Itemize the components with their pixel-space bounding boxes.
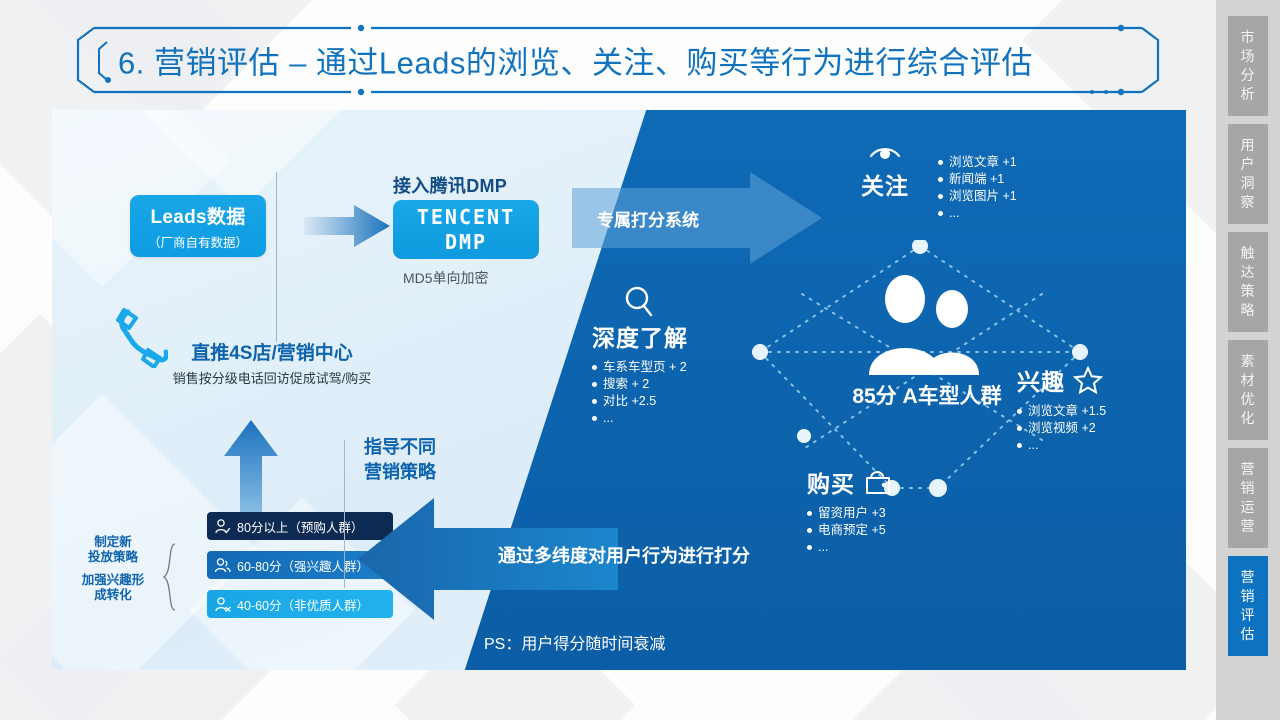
list-item: 电商预定 +5 (807, 522, 987, 539)
sidebar-item-creative-optimization[interactable]: 素材优化 (1228, 340, 1268, 440)
leads-title: Leads数据 (150, 202, 245, 229)
vertical-divider (276, 172, 277, 342)
scoring-band-label: 专属打分系统 (597, 206, 699, 231)
list-item: 浏览图片 +1 (938, 188, 1017, 205)
list-item: 新闻端 +1 (938, 171, 1017, 188)
list-item: 浏览文章 +1 (938, 154, 1017, 171)
arrow-right-icon (304, 203, 390, 249)
sidebar-item-label: 触达策略 (1241, 244, 1256, 320)
tencent-dmp-logo[interactable]: TENCENT DMP (393, 200, 539, 259)
sidebar-item-marketing-operations[interactable]: 营销运营 (1228, 448, 1268, 548)
segment-note-1-line1: 制定新 (94, 535, 132, 549)
eye-icon (870, 145, 900, 165)
cluster-deep-list: 车系车型页 + 2 搜索 + 2 对比 +2.5 ... (592, 359, 772, 427)
cluster-deep-title: 深度了解 (592, 319, 688, 353)
sidebar-item-label: 营销评估 (1241, 568, 1256, 644)
list-item: 浏览文章 +1.5 (1017, 403, 1186, 420)
vertical-divider-2 (344, 440, 345, 588)
guide-line2: 营销策略 (364, 462, 436, 482)
list-item: 留资用户 +3 (807, 505, 987, 522)
cluster-interest: 兴趣 浏览文章 +1.5 浏览视频 +2 ... (1017, 363, 1186, 454)
direct-push-subtitle: 销售按分级电话回访促成试驾/购买 (132, 368, 412, 387)
list-item-text: 对比 +2.5 (603, 393, 656, 410)
star-icon (1073, 366, 1103, 395)
list-item: 搜索 + 2 (592, 376, 772, 393)
list-item-text: 浏览文章 +1 (949, 154, 1017, 171)
bag-icon (863, 469, 893, 496)
segment-note-1-line2: 投放策略 (88, 550, 138, 564)
cluster-purchase-title: 购买 (807, 465, 855, 499)
sidebar-item-label: 素材优化 (1241, 352, 1256, 428)
dmp-encryption-note: MD5单向加密 (403, 268, 489, 288)
list-item: 车系车型页 + 2 (592, 359, 772, 376)
ps-note: PS：用户得分随时间衰减 (484, 630, 665, 654)
dmp-heading: 接入腾讯DMP (393, 172, 507, 198)
cluster-interest-head: 兴趣 (1017, 363, 1186, 397)
guide-line1: 指导不同 (364, 437, 436, 457)
user-check-icon (207, 518, 237, 535)
list-item-text: ... (603, 410, 613, 427)
list-item: ... (592, 410, 772, 427)
list-item-text: ... (1028, 437, 1038, 454)
page-title: 6. 营销评估 – 通过Leads的浏览、关注、购买等行为进行综合评估 (66, 24, 1170, 96)
list-item-text: 搜索 + 2 (603, 376, 649, 393)
cluster-attention-title: 关注 (861, 167, 909, 201)
leads-data-card[interactable]: Leads数据 （厂商自有数据） (130, 195, 266, 257)
list-item: ... (807, 539, 987, 556)
segment-label: 40-60分（非优质人群） (237, 595, 369, 614)
diagram-panel: Leads数据 （厂商自有数据） 接入腾讯DMP TENCENT DMP MD5… (52, 110, 1186, 670)
list-item-text: 留资用户 +3 (818, 505, 886, 522)
guide-strategy-label: 指导不同 营销策略 (364, 435, 484, 485)
dmp-logo-line1: TENCENT (417, 205, 515, 229)
list-item: ... (938, 205, 1017, 222)
cluster-attention-head: 关注 (852, 145, 918, 201)
sidebar-item-market-analysis[interactable]: 市场分析 (1228, 16, 1268, 116)
list-item: 浏览视频 +2 (1017, 420, 1186, 437)
cluster-attention-list: 浏览文章 +1 新闻端 +1 浏览图片 +1 ... (938, 154, 1017, 222)
cluster-purchase: 购买 留资用户 +3 电商预定 +5 ... (807, 465, 987, 556)
segment-note-2-line1: 加强兴趣形 (82, 573, 145, 587)
list-item: ... (1017, 437, 1186, 454)
list-item-text: 浏览视频 +2 (1028, 420, 1096, 437)
sidebar-item-user-insight[interactable]: 用户洞察 (1228, 124, 1268, 224)
cluster-purchase-head: 购买 (807, 465, 987, 499)
sidebar-tabs: 市场分析 用户洞察 触达策略 素材优化 营销运营 营销评估 (1216, 0, 1280, 720)
list-item-text: 浏览图片 +1 (949, 188, 1017, 205)
sidebar-item-label: 市场分析 (1241, 28, 1256, 104)
list-item: 对比 +2.5 (592, 393, 772, 410)
segment-label: 60-80分（强兴趣人群） (237, 556, 369, 575)
list-item-text: ... (949, 205, 959, 222)
list-item-text: 浏览文章 +1.5 (1028, 403, 1106, 420)
user-group-icon (207, 557, 237, 574)
cluster-purchase-list: 留资用户 +3 电商预定 +5 ... (807, 505, 987, 556)
segment-note-1: 制定新 投放策略 (70, 535, 156, 565)
cluster-interest-list: 浏览文章 +1.5 浏览视频 +2 ... (1017, 403, 1186, 454)
list-item-text: 车系车型页 + 2 (603, 359, 687, 376)
search-icon (622, 285, 656, 319)
list-item-text: 电商预定 +5 (818, 522, 886, 539)
dmp-logo-line2: DMP (445, 230, 487, 254)
list-item-text: 新闻端 +1 (949, 171, 1004, 188)
sidebar-item-reach-strategy[interactable]: 触达策略 (1228, 232, 1268, 332)
people-icon (857, 275, 993, 375)
list-item-text: ... (818, 539, 828, 556)
sidebar-item-marketing-evaluation[interactable]: 营销评估 (1228, 556, 1268, 656)
brace-icon (162, 542, 178, 612)
sidebar-item-label: 营销运营 (1241, 460, 1256, 536)
segment-note-2: 加强兴趣形 成转化 (66, 573, 160, 603)
user-x-icon (207, 596, 237, 613)
sidebar-item-label: 用户洞察 (1241, 136, 1256, 212)
segment-note-2-line2: 成转化 (94, 588, 132, 602)
leads-subtitle: （厂商自有数据） (148, 232, 248, 251)
direct-push-title: 直推4S店/营销中心 (152, 338, 392, 365)
arrow-up-icon (218, 420, 284, 520)
scoring-caption: 通过多纬度对用户行为进行打分 (498, 542, 750, 568)
cluster-interest-title: 兴趣 (1017, 363, 1065, 397)
cluster-deep-head: 深度了解 (592, 285, 772, 353)
page-title-text: 6. 营销评估 – 通过Leads的浏览、关注、购买等行为进行综合评估 (118, 38, 1033, 83)
cluster-deep-understanding: 深度了解 车系车型页 + 2 搜索 + 2 对比 +2.5 ... (592, 285, 772, 427)
